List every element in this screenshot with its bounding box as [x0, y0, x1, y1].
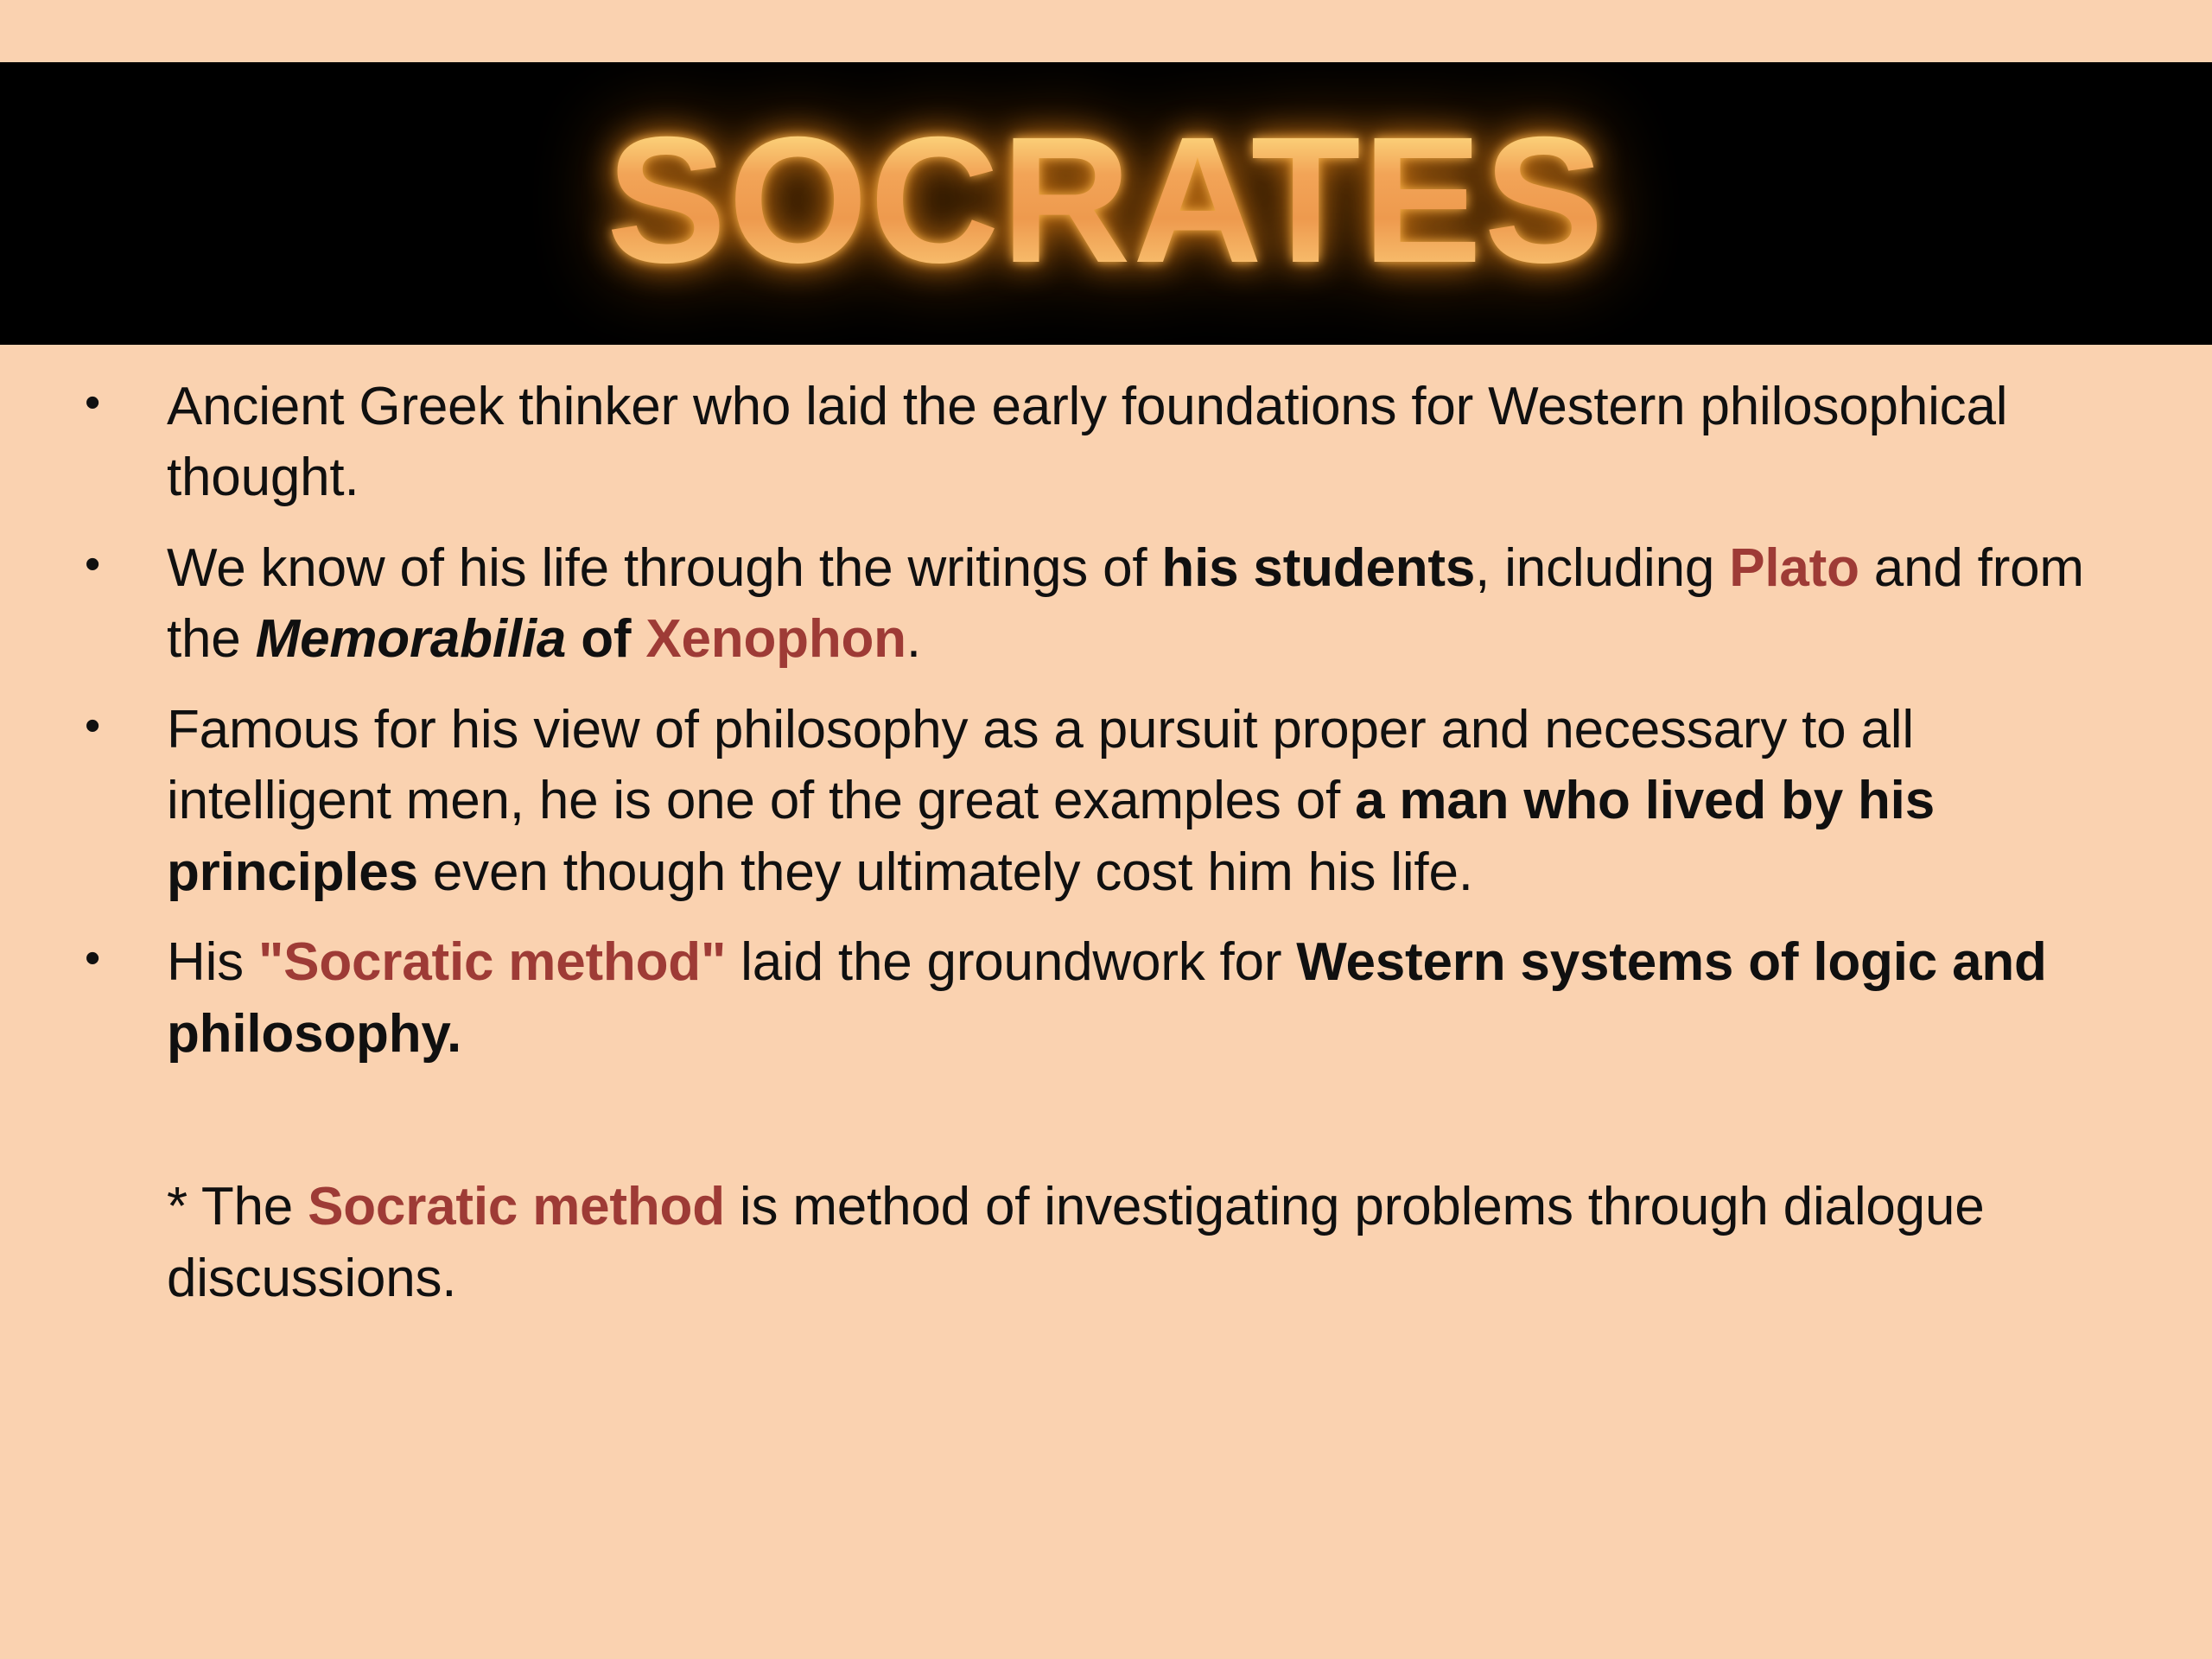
text-run: Memorabilia — [256, 609, 567, 669]
text-run: . — [906, 609, 921, 669]
text-run: even though they ultimately cost him his… — [418, 842, 1473, 902]
text-run: laid the groundwork for — [726, 932, 1296, 992]
text-run: Plato — [1729, 538, 1859, 598]
slide: SOCRATES Ancient Greek thinker who laid … — [0, 0, 2212, 1659]
page-title: SOCRATES — [607, 111, 1605, 297]
text-run: We know of his life through the writings… — [167, 538, 1161, 598]
footnote-text: * The Socratic method is method of inves… — [167, 1172, 2152, 1314]
bullet-list: Ancient Greek thinker who laid the early… — [69, 372, 2152, 1070]
slide-body: Ancient Greek thinker who laid the early… — [0, 372, 2212, 1314]
text-run: His — [167, 932, 258, 992]
title-banner: SOCRATES — [0, 62, 2212, 345]
text-run: Ancient Greek thinker who laid the early… — [167, 377, 2007, 507]
text-run: , including — [1475, 538, 1729, 598]
text-run: * The — [167, 1177, 308, 1236]
text-run: Socratic method — [308, 1177, 725, 1236]
list-item: Ancient Greek thinker who laid the early… — [69, 372, 2152, 514]
list-item: We know of his life through the writings… — [69, 533, 2152, 676]
text-run: of — [566, 609, 645, 669]
list-item: Famous for his view of philosophy as a p… — [69, 695, 2152, 908]
list-item: His "Socratic method" laid the groundwor… — [69, 927, 2152, 1070]
text-run: his students — [1161, 538, 1475, 598]
text-run: Xenophon — [645, 609, 906, 669]
text-run: "Socratic method" — [258, 932, 726, 992]
